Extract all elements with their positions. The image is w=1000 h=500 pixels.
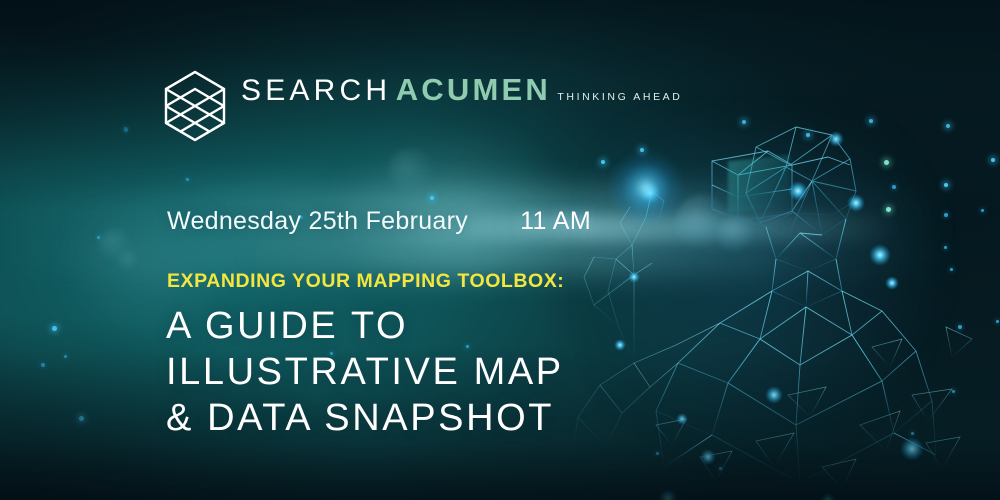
headline-line: ILLUSTRATIVE MAP — [166, 349, 564, 395]
page-title: A GUIDE TO ILLUSTRATIVE MAP & DATA SNAPS… — [166, 303, 564, 441]
headline-line: A GUIDE TO — [166, 303, 564, 349]
logo-line-acumen: ACUMEN — [396, 72, 551, 107]
headline-line: & DATA SNAPSHOT — [166, 395, 564, 441]
event-datetime: Wednesday 25th February 11 AM — [167, 207, 591, 236]
eyebrow-text: EXPANDING YOUR MAPPING TOOLBOX: — [167, 270, 564, 293]
webinar-promo-banner: SEARCH ACUMEN THINKING AHEAD Wednesday 2… — [0, 0, 1000, 500]
event-time: 11 AM — [520, 207, 591, 236]
hexagon-lattice-icon — [163, 70, 227, 142]
logo-wordmark: SEARCH ACUMEN THINKING AHEAD — [241, 70, 682, 108]
logo-tagline: THINKING AHEAD — [557, 91, 682, 103]
logo-line-search: SEARCH — [241, 74, 391, 107]
search-acumen-logo[interactable]: SEARCH ACUMEN THINKING AHEAD — [163, 70, 682, 142]
event-date: Wednesday 25th February — [167, 207, 468, 236]
